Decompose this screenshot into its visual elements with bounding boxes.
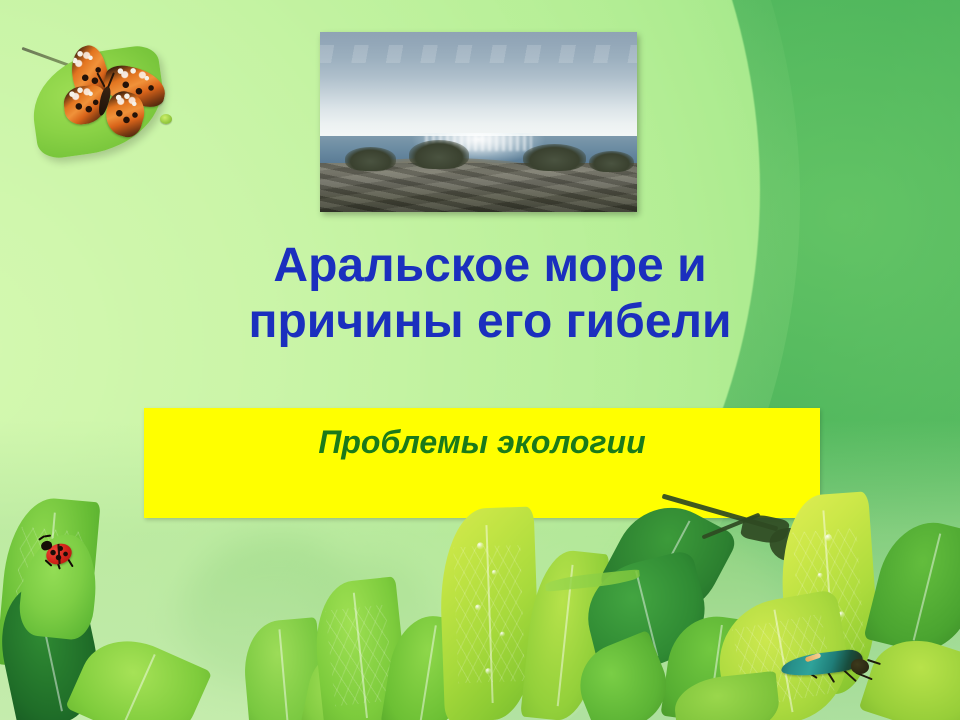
- photo-ground-texture: [320, 163, 637, 212]
- leaf-vein: [913, 534, 941, 640]
- leaf-item: [863, 512, 960, 662]
- photo-bush-center: [409, 140, 469, 169]
- subtitle-text: Проблемы экологии: [144, 424, 820, 461]
- photo-bush-far-right: [589, 151, 633, 173]
- photo-bush-left: [345, 147, 396, 170]
- leaf-side-veins: [28, 530, 102, 538]
- leafhopper-on-leaf-decoration: [775, 645, 890, 700]
- photo-cloud-streaks: [320, 45, 637, 63]
- leaf-side-veins: [453, 545, 525, 683]
- slide-canvas: Аральское море и причины его гибели Проб…: [0, 0, 960, 720]
- leafhopper-head: [851, 659, 869, 674]
- tiny-green-bug: [160, 114, 172, 124]
- photo-bush-right: [523, 144, 586, 171]
- page-title-line-1: Аральское море и: [110, 238, 870, 294]
- ladybug-on-leaf-decoration: [16, 528, 126, 638]
- leaf-vein: [28, 530, 102, 538]
- aral-sea-photo: [320, 32, 637, 212]
- leaf-vein: [278, 629, 288, 720]
- leafhopper-antenna: [867, 659, 881, 665]
- butterfly-on-leaf-decoration: [14, 30, 204, 165]
- leaf-vein: [122, 654, 155, 720]
- page-title: Аральское море и причины его гибели: [110, 238, 870, 350]
- page-title-line-2: причины его гибели: [110, 294, 870, 350]
- leaf-vein: [420, 625, 437, 720]
- ladybug-antenna: [44, 535, 51, 538]
